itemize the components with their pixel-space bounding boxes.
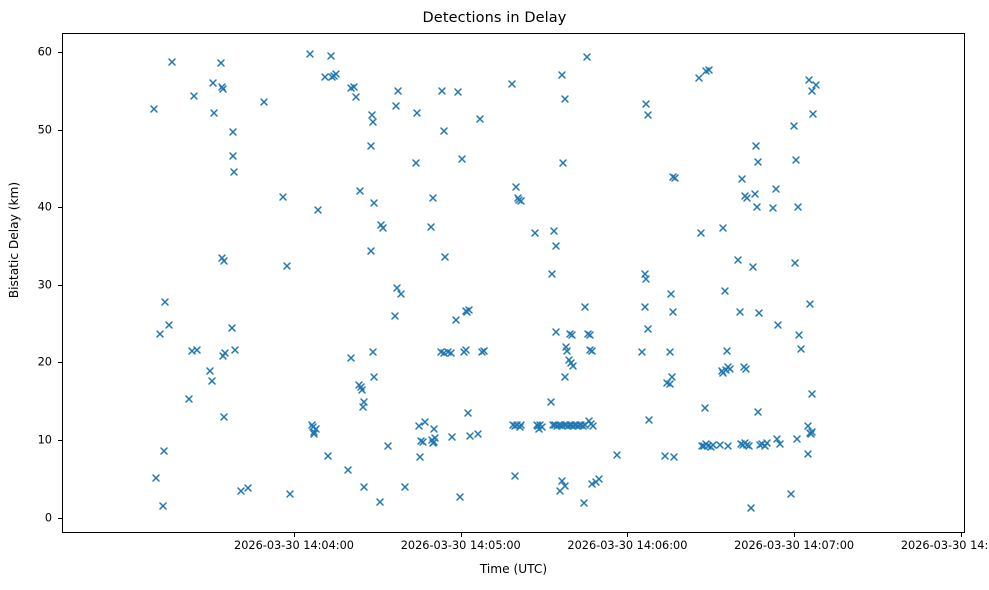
scatter-point bbox=[516, 423, 524, 431]
x-axis-tick-label: 2026-03-30 14:06:00 bbox=[567, 539, 687, 552]
scatter-point bbox=[722, 366, 730, 374]
scatter-point bbox=[808, 390, 816, 398]
x-axis-tick bbox=[627, 533, 628, 537]
scatter-point bbox=[476, 115, 484, 123]
scatter-point bbox=[350, 83, 358, 91]
scatter-point bbox=[419, 438, 427, 446]
y-axis-tick bbox=[58, 518, 62, 519]
scatter-point bbox=[807, 430, 815, 438]
scatter-point bbox=[566, 330, 574, 338]
scatter-point bbox=[701, 404, 709, 412]
scatter-point bbox=[592, 478, 600, 486]
scatter-point bbox=[368, 111, 376, 119]
scatter-point bbox=[168, 58, 176, 66]
scatter-point bbox=[641, 303, 649, 311]
scatter-point bbox=[185, 395, 193, 403]
scatter-point bbox=[462, 346, 470, 354]
scatter-point bbox=[229, 128, 237, 136]
scatter-point bbox=[534, 422, 542, 430]
scatter-point bbox=[702, 440, 710, 448]
scatter-point bbox=[397, 290, 405, 298]
scatter-point bbox=[360, 398, 368, 406]
scatter-point bbox=[379, 224, 387, 232]
scatter-point bbox=[763, 439, 771, 447]
scatter-point bbox=[359, 403, 367, 411]
scatter-point bbox=[567, 359, 575, 367]
scatter-point bbox=[156, 330, 164, 338]
scatter-point bbox=[517, 421, 525, 429]
scatter-point bbox=[736, 308, 744, 316]
scatter-point bbox=[752, 142, 760, 150]
scatter-point bbox=[552, 328, 560, 336]
scatter-point bbox=[480, 347, 488, 355]
scatter-point bbox=[562, 343, 570, 351]
x-axis-tick bbox=[961, 533, 962, 537]
scatter-point bbox=[661, 452, 669, 460]
scatter-point bbox=[559, 159, 567, 167]
scatter-point bbox=[360, 483, 368, 491]
scatter-point bbox=[231, 346, 239, 354]
scatter-point bbox=[286, 490, 294, 498]
scatter-point bbox=[511, 472, 519, 480]
scatter-point bbox=[465, 306, 473, 314]
scatter-point bbox=[718, 367, 726, 375]
scatter-point bbox=[460, 348, 468, 356]
scatter-point bbox=[444, 348, 452, 356]
scatter-point bbox=[384, 442, 392, 450]
scatter-point bbox=[774, 321, 782, 329]
scatter-point bbox=[702, 67, 710, 75]
scatter-point bbox=[355, 381, 363, 389]
scatter-point bbox=[367, 247, 375, 255]
scatter-point bbox=[724, 363, 732, 371]
x-axis-tick bbox=[794, 533, 795, 537]
scatter-point bbox=[704, 442, 712, 450]
scatter-point bbox=[220, 413, 228, 421]
scatter-point bbox=[791, 259, 799, 267]
y-axis-tick-label: 20 bbox=[0, 356, 52, 369]
scatter-point bbox=[642, 275, 650, 283]
scatter-point bbox=[561, 373, 569, 381]
scatter-point bbox=[724, 442, 732, 450]
y-axis-tick-label: 10 bbox=[0, 433, 52, 446]
scatter-point bbox=[413, 109, 421, 117]
scatter-point bbox=[579, 422, 587, 430]
scatter-point bbox=[209, 79, 217, 87]
x-axis-tick-label: 2026-03-30 14:05:00 bbox=[401, 539, 521, 552]
scatter-point bbox=[208, 377, 216, 385]
scatter-point bbox=[306, 50, 314, 58]
scatter-point bbox=[508, 80, 516, 88]
scatter-point bbox=[726, 365, 734, 373]
scatter-point bbox=[709, 441, 717, 449]
scatter-point bbox=[769, 204, 777, 212]
scatter-point bbox=[787, 490, 795, 498]
scatter-point bbox=[515, 196, 523, 204]
scatter-point bbox=[531, 229, 539, 237]
scatter-point bbox=[577, 421, 585, 429]
scatter-point bbox=[308, 421, 316, 429]
scatter-point bbox=[219, 85, 227, 93]
scatter-point bbox=[401, 483, 409, 491]
x-axis-tick bbox=[294, 533, 295, 537]
scatter-point bbox=[756, 441, 764, 449]
scatter-point bbox=[193, 346, 201, 354]
scatter-point bbox=[463, 308, 471, 316]
scatter-point bbox=[160, 447, 168, 455]
scatter-point bbox=[670, 453, 678, 461]
scatter-point bbox=[561, 421, 569, 429]
scatter-point bbox=[321, 73, 329, 81]
scatter-point bbox=[669, 308, 677, 316]
scatter-point bbox=[549, 421, 557, 429]
scatter-point bbox=[753, 203, 761, 211]
scatter-point bbox=[550, 227, 558, 235]
scatter-point bbox=[569, 362, 577, 370]
scatter-point bbox=[741, 439, 749, 447]
scatter-point bbox=[509, 421, 517, 429]
scatter-point bbox=[588, 347, 596, 355]
scatter-point bbox=[447, 349, 455, 357]
scatter-point bbox=[584, 330, 592, 338]
scatter-point bbox=[417, 437, 425, 445]
scatter-point bbox=[310, 430, 318, 438]
scatter-point bbox=[452, 316, 460, 324]
y-axis-tick bbox=[58, 207, 62, 208]
scatter-point bbox=[792, 156, 800, 164]
scatter-point bbox=[586, 331, 594, 339]
scatter-point bbox=[581, 421, 589, 429]
scatter-point bbox=[793, 435, 801, 443]
scatter-point bbox=[229, 152, 237, 160]
scatter-point bbox=[737, 440, 745, 448]
scatter-point bbox=[391, 312, 399, 320]
scatter-point bbox=[749, 263, 757, 271]
scatter-point bbox=[739, 441, 747, 449]
scatter-point bbox=[312, 425, 320, 433]
scatter-point bbox=[745, 442, 753, 450]
scatter-point bbox=[638, 348, 646, 356]
scatter-point bbox=[412, 159, 420, 167]
scatter-point bbox=[393, 284, 401, 292]
scatter-point bbox=[808, 87, 816, 95]
scatter-point bbox=[454, 88, 462, 96]
scatter-point bbox=[218, 254, 226, 262]
scatter-point bbox=[586, 346, 594, 354]
scatter-point bbox=[553, 422, 561, 430]
scatter-point bbox=[562, 421, 570, 429]
scatter-point bbox=[751, 190, 759, 198]
scatter-point bbox=[755, 309, 763, 317]
scatter-point bbox=[697, 229, 705, 237]
scatter-point bbox=[583, 53, 591, 61]
scatter-point bbox=[667, 290, 675, 298]
scatter-point bbox=[438, 87, 446, 95]
scatter-point bbox=[663, 379, 671, 387]
scatter-point bbox=[416, 453, 424, 461]
scatter-point bbox=[666, 380, 674, 388]
scatter-point bbox=[358, 386, 366, 394]
scatter-point bbox=[161, 298, 169, 306]
scatter-point bbox=[512, 183, 520, 191]
matplotlib-figure: Detections in Delay 2026-03-30 14:04:002… bbox=[0, 0, 989, 590]
plot-axes bbox=[62, 33, 965, 533]
scatter-point bbox=[279, 193, 287, 201]
scatter-point bbox=[230, 168, 238, 176]
scatter-point bbox=[392, 102, 400, 110]
scatter-point bbox=[244, 484, 252, 492]
y-axis-tick-label: 50 bbox=[0, 123, 52, 136]
scatter-point bbox=[795, 331, 803, 339]
scatter-point bbox=[671, 174, 679, 182]
scatter-point bbox=[719, 224, 727, 232]
scatter-point bbox=[574, 422, 582, 430]
x-axis-tick-label: 2026-03-30 14:04:00 bbox=[234, 539, 354, 552]
scatter-point bbox=[668, 373, 676, 381]
scatter-point bbox=[456, 493, 464, 501]
scatter-point bbox=[220, 257, 228, 265]
y-axis-tick bbox=[58, 440, 62, 441]
scatter-point bbox=[152, 474, 160, 482]
scatter-point bbox=[572, 421, 580, 429]
scatter-point bbox=[533, 421, 541, 429]
scatter-point bbox=[357, 383, 365, 391]
scatter-point bbox=[613, 451, 621, 459]
scatter-point bbox=[429, 194, 437, 202]
scatter-point bbox=[415, 422, 423, 430]
scatter-point bbox=[548, 270, 556, 278]
scatter-point bbox=[369, 348, 377, 356]
scatter-point bbox=[812, 81, 820, 89]
scatter-point bbox=[206, 367, 214, 375]
scatter-point bbox=[441, 253, 449, 261]
scatter-point bbox=[431, 434, 439, 442]
scatter-point bbox=[309, 423, 317, 431]
scatter-point bbox=[535, 425, 543, 433]
scatter-point bbox=[804, 450, 812, 458]
scatter-point bbox=[440, 349, 448, 357]
x-axis-tick-label: 2026-03-30 14:07:00 bbox=[734, 539, 854, 552]
y-axis-tick bbox=[58, 285, 62, 286]
scatter-point bbox=[344, 466, 352, 474]
scatter-point bbox=[776, 440, 784, 448]
scatter-point bbox=[221, 349, 229, 357]
scatter-point bbox=[260, 98, 268, 106]
scatter-point bbox=[547, 398, 555, 406]
scatter-point bbox=[555, 421, 563, 429]
scatter-point bbox=[352, 93, 360, 101]
scatter-point bbox=[580, 499, 588, 507]
scatter-point bbox=[569, 422, 577, 430]
scatter-point bbox=[809, 110, 817, 118]
scatter-point bbox=[666, 348, 674, 356]
scatter-point bbox=[761, 442, 769, 450]
scatter-point bbox=[219, 352, 227, 360]
scatter-point bbox=[429, 439, 437, 447]
scatter-point bbox=[474, 430, 482, 438]
x-axis-tick bbox=[461, 533, 462, 537]
scatter-point bbox=[347, 354, 355, 362]
scatter-point bbox=[324, 452, 332, 460]
scatter-point bbox=[740, 363, 748, 371]
y-axis-tick bbox=[58, 130, 62, 131]
scatter-point bbox=[437, 348, 445, 356]
scatter-point bbox=[556, 487, 564, 495]
scatter-point bbox=[190, 92, 198, 100]
scatter-point bbox=[716, 441, 724, 449]
scatter-point bbox=[723, 347, 731, 355]
scatter-point bbox=[218, 83, 226, 91]
scatter-point bbox=[794, 203, 802, 211]
scatter-point bbox=[566, 421, 574, 429]
scatter-point bbox=[595, 475, 603, 483]
scatter-point bbox=[428, 436, 436, 444]
scatter-point bbox=[367, 142, 375, 150]
scatter-point bbox=[478, 348, 486, 356]
scatter-point bbox=[806, 429, 814, 437]
scatter-point bbox=[552, 242, 560, 250]
scatter-point bbox=[754, 408, 762, 416]
scatter-point bbox=[430, 425, 438, 433]
scatter-point bbox=[440, 127, 448, 135]
scatter-point bbox=[741, 192, 749, 200]
scatter-point bbox=[427, 223, 435, 231]
scatter-point bbox=[394, 87, 402, 95]
scatter-point bbox=[773, 435, 781, 443]
scatter-point bbox=[283, 262, 291, 270]
x-axis-label: Time (UTC) bbox=[62, 562, 965, 576]
scatter-point bbox=[458, 155, 466, 163]
scatter-point bbox=[695, 74, 703, 82]
scatter-point bbox=[790, 122, 798, 130]
y-axis-label: Bistatic Delay (km) bbox=[7, 140, 21, 340]
scatter-point bbox=[698, 442, 706, 450]
scatter-point bbox=[370, 199, 378, 207]
scatter-point bbox=[568, 331, 576, 339]
scatter-point bbox=[808, 428, 816, 436]
scatter-point bbox=[700, 442, 708, 450]
scatter-point bbox=[430, 438, 438, 446]
scatter-point bbox=[567, 421, 575, 429]
y-axis-tick bbox=[58, 52, 62, 53]
scatter-point bbox=[462, 307, 470, 315]
scatter-point bbox=[561, 95, 569, 103]
y-axis-tick-label: 0 bbox=[0, 511, 52, 524]
scatter-point bbox=[588, 480, 596, 488]
scatter-point bbox=[742, 365, 750, 373]
scatter-point bbox=[188, 347, 196, 355]
scatter-point bbox=[538, 423, 546, 431]
scatter-point bbox=[237, 487, 245, 495]
scatter-point bbox=[644, 325, 652, 333]
scatter-point bbox=[150, 105, 158, 113]
scatter-point bbox=[511, 422, 519, 430]
chart-title: Detections in Delay bbox=[0, 10, 989, 26]
scatter-point bbox=[772, 185, 780, 193]
scatter-point bbox=[707, 443, 715, 451]
scatter-point bbox=[563, 347, 571, 355]
scatter-point bbox=[327, 52, 335, 60]
scatter-point bbox=[719, 369, 727, 377]
scatter-point bbox=[564, 422, 572, 430]
scatter-point bbox=[558, 477, 566, 485]
scatter-point bbox=[159, 502, 167, 510]
scatter-point bbox=[376, 498, 384, 506]
scatter-point bbox=[314, 206, 322, 214]
scatter-point bbox=[743, 441, 751, 449]
scatter-point bbox=[332, 70, 340, 78]
scatter-point bbox=[705, 66, 713, 74]
scatter-point bbox=[806, 300, 814, 308]
scatter-point bbox=[347, 84, 355, 92]
scatter-point bbox=[330, 72, 338, 80]
scatter-point bbox=[165, 321, 173, 329]
scatter-point bbox=[721, 287, 729, 295]
scatter-point bbox=[448, 433, 456, 441]
scatter-point bbox=[217, 59, 225, 67]
scatter-point bbox=[464, 409, 472, 417]
scatter-point bbox=[747, 504, 755, 512]
scatter-point bbox=[210, 109, 218, 117]
scatter-point bbox=[585, 417, 593, 425]
scatter-point bbox=[587, 420, 595, 428]
scatter-point bbox=[641, 270, 649, 278]
scatter-point bbox=[369, 118, 377, 126]
scatter-point bbox=[805, 76, 813, 84]
scatter-points-layer bbox=[63, 34, 964, 532]
scatter-point bbox=[551, 421, 559, 429]
scatter-point bbox=[644, 111, 652, 119]
y-axis-tick bbox=[58, 362, 62, 363]
scatter-point bbox=[734, 256, 742, 264]
scatter-point bbox=[565, 356, 573, 364]
scatter-point bbox=[804, 422, 812, 430]
scatter-point bbox=[642, 100, 650, 108]
scatter-point bbox=[370, 373, 378, 381]
scatter-point bbox=[743, 194, 751, 202]
scatter-point bbox=[589, 422, 597, 430]
scatter-point bbox=[356, 187, 364, 195]
scatter-point bbox=[797, 345, 805, 353]
scatter-point bbox=[754, 158, 762, 166]
scatter-point bbox=[581, 303, 589, 311]
scatter-point bbox=[514, 194, 522, 202]
scatter-point bbox=[228, 324, 236, 332]
scatter-point bbox=[645, 416, 653, 424]
scatter-point bbox=[377, 221, 385, 229]
scatter-point bbox=[328, 73, 336, 81]
scatter-point bbox=[758, 440, 766, 448]
scatter-point bbox=[421, 418, 429, 426]
x-axis-tick-label: 2026-03-30 14:08:00 bbox=[901, 539, 989, 552]
scatter-point bbox=[536, 421, 544, 429]
scatter-point bbox=[310, 428, 318, 436]
scatter-point bbox=[558, 422, 566, 430]
scatter-point bbox=[561, 482, 569, 490]
scatter-point bbox=[517, 197, 525, 205]
scatter-point bbox=[557, 421, 565, 429]
scatter-point bbox=[571, 421, 579, 429]
scatter-point bbox=[558, 71, 566, 79]
scatter-point bbox=[513, 421, 521, 429]
scatter-point bbox=[669, 173, 677, 181]
scatter-point bbox=[738, 175, 746, 183]
scatter-point bbox=[466, 432, 474, 440]
y-axis-tick-label: 60 bbox=[0, 46, 52, 59]
scatter-point bbox=[576, 421, 584, 429]
